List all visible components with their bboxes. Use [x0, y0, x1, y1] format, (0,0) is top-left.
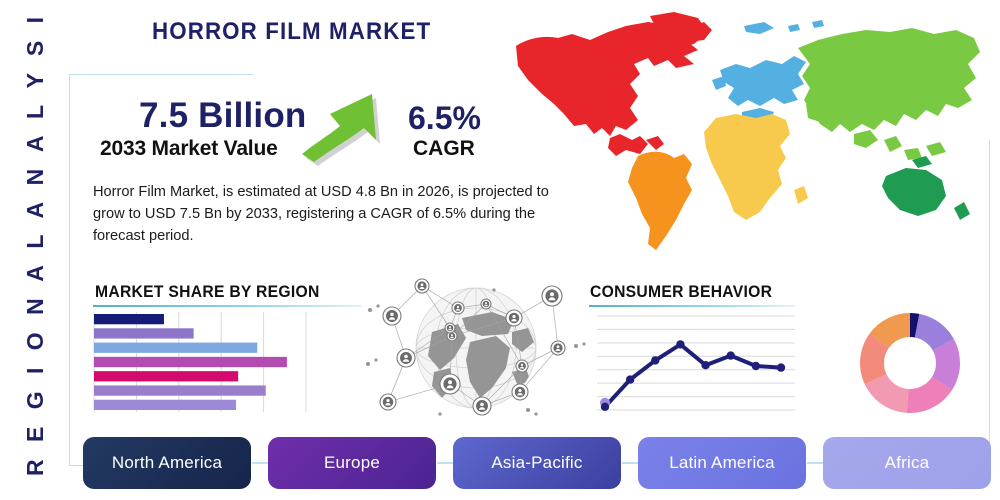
network-node-icon [397, 349, 415, 367]
region-pill-europe[interactable]: Europe [268, 437, 436, 489]
network-node-icon [473, 397, 491, 415]
page-title: HORROR FILM MARKET [152, 18, 431, 46]
line-chart-marker [727, 351, 735, 359]
bar-chart-bar [94, 314, 164, 324]
line-chart-marker [676, 340, 684, 348]
region-pill-latin-america[interactable]: Latin America [638, 437, 806, 489]
network-node-icon [452, 302, 464, 314]
segment-donut-chart [855, 308, 965, 418]
region-pill-row: North AmericaEuropeAsia-PacificLatin Ame… [83, 437, 943, 489]
region-pill-north-america[interactable]: North America [83, 437, 251, 489]
network-node-icon [440, 374, 460, 394]
bar-chart-bar [94, 328, 194, 338]
line-chart-markers [600, 340, 785, 411]
market-share-heading-rule [93, 305, 361, 307]
network-node-icon [516, 360, 528, 372]
market-share-bar-chart [93, 312, 308, 412]
network-node-icon [383, 307, 401, 325]
cagr-figure: 6.5% [408, 100, 481, 137]
consumer-behavior-heading: CONSUMER BEHAVIOR [590, 283, 772, 302]
infographic-root: R E G I O N A L A N A L Y S I S HORROR F… [0, 0, 1000, 500]
frame-border-left [69, 74, 70, 466]
bar-chart-bar [94, 371, 238, 381]
donut-segments [860, 313, 960, 413]
line-chart-marker [777, 363, 785, 371]
network-node-icon [542, 286, 562, 306]
line-chart-gridlines [597, 316, 795, 410]
network-node-icon [551, 341, 565, 355]
bar-chart-bar [94, 357, 287, 367]
bar-chart-bars [94, 314, 287, 410]
market-value-label: 2033 Market Value [100, 137, 278, 161]
vertical-section-label: R E G I O N A L A N A L Y S I S [22, 56, 62, 476]
frame-border-right [989, 140, 990, 467]
market-value-figure: 7.5 Billion [139, 96, 307, 136]
network-node-icon [445, 323, 455, 333]
line-chart-marker [752, 362, 760, 370]
consumer-behavior-line-chart [597, 312, 795, 416]
market-share-heading: MARKET SHARE BY REGION [95, 283, 320, 302]
consumer-behavior-heading-rule [589, 305, 795, 307]
frame-border-top [69, 74, 253, 75]
region-pill-asia-pacific[interactable]: Asia-Pacific [453, 437, 621, 489]
line-chart-marker [651, 356, 659, 364]
network-node-icon [415, 279, 429, 293]
line-chart-marker [626, 375, 634, 383]
network-node-icon [481, 299, 491, 309]
bar-chart-bar [94, 385, 266, 395]
bar-chart-bar [94, 400, 236, 410]
network-node-icon [506, 310, 522, 326]
line-chart-marker [601, 403, 609, 411]
bar-chart-bar [94, 343, 257, 353]
line-chart-marker [701, 361, 709, 369]
network-node-icon [380, 394, 396, 410]
growth-arrow-icon [300, 78, 415, 168]
global-network-icon [362, 272, 590, 424]
network-node-icon [512, 384, 528, 400]
region-pill-africa[interactable]: Africa [823, 437, 991, 489]
world-map-icon [498, 8, 988, 263]
cagr-label: CAGR [413, 137, 475, 161]
